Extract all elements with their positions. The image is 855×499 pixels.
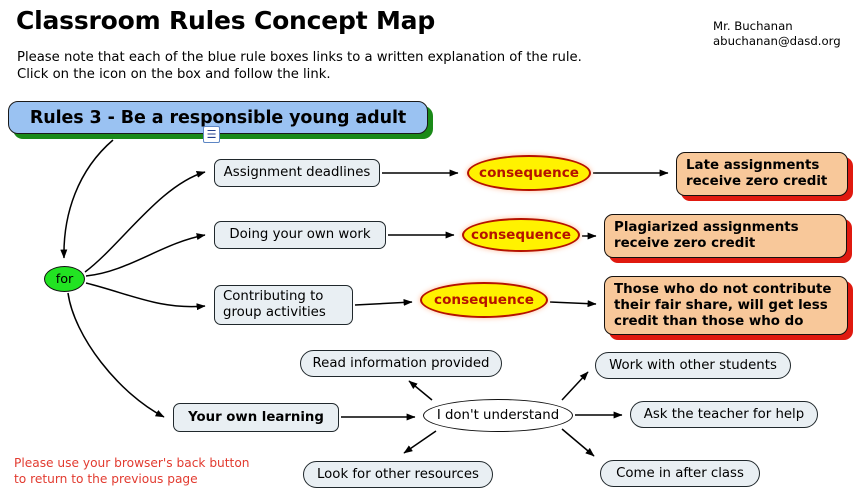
node-ask-the-teacher-for-help[interactable]: Ask the teacher for help <box>630 401 818 428</box>
consequence-node-2: consequence <box>462 218 580 252</box>
node-contrib-line-2: group activities <box>223 305 326 321</box>
document-link-icon[interactable]: ☰ <box>203 126 220 143</box>
node-look-for-other-resources[interactable]: Look for other resources <box>303 461 493 488</box>
outcome-1-line-1: Late assignments <box>686 158 827 174</box>
outcome-fair-share: Those who do not contribute their fair s… <box>604 276 848 335</box>
node-assignment-deadlines[interactable]: Assignment deadlines <box>214 159 380 187</box>
page-title: Classroom Rules Concept Map <box>16 6 435 35</box>
node-i-dont-understand: I don't understand <box>423 399 573 432</box>
author-name: Mr. Buchanan <box>713 19 841 34</box>
subtitle-line-1: Please note that each of the blue rule b… <box>17 49 582 66</box>
outcome-2-line-1: Plagiarized assignments <box>614 220 799 236</box>
consequence-node-3: consequence <box>420 282 548 318</box>
outcome-2-line-2: receive zero credit <box>614 236 799 252</box>
node-contrib-line-1: Contributing to <box>223 289 326 305</box>
outcome-3-line-2: their fair share, will get less <box>614 298 831 314</box>
author-info: Mr. Buchanan abuchanan@dasd.org <box>713 19 841 49</box>
node-doing-your-own-work[interactable]: Doing your own work <box>214 221 386 249</box>
outcome-late-assignments: Late assignments receive zero credit <box>676 152 848 196</box>
node-contributing-to-group-activities[interactable]: Contributing to group activities <box>214 285 353 325</box>
node-your-own-learning[interactable]: Your own learning <box>173 403 339 432</box>
outcome-plagiarized-assignments: Plagiarized assignments receive zero cre… <box>604 214 847 258</box>
document-link-icon-glyph: ☰ <box>207 129 217 140</box>
back-note-line-1: Please use your browser's back button <box>14 455 250 471</box>
author-email: abuchanan@dasd.org <box>713 34 841 49</box>
subtitle-line-2: Click on the icon on the box and follow … <box>17 66 582 83</box>
outcome-1-line-2: receive zero credit <box>686 174 827 190</box>
node-work-with-other-students[interactable]: Work with other students <box>595 352 791 379</box>
outcome-3-line-3: credit than those who do <box>614 314 831 330</box>
concept-map-canvas: Classroom Rules Concept Map Please note … <box>0 0 855 499</box>
consequence-node-1: consequence <box>467 155 591 191</box>
node-read-information-provided[interactable]: Read information provided <box>300 350 502 377</box>
outcome-3-line-1: Those who do not contribute <box>614 282 831 298</box>
back-note-line-2: to return to the previous page <box>14 471 250 487</box>
for-connector-node: for <box>44 266 85 292</box>
page-subtitle: Please note that each of the blue rule b… <box>17 49 582 83</box>
back-button-note: Please use your browser's back button to… <box>14 455 250 487</box>
node-come-in-after-class[interactable]: Come in after class <box>600 460 760 487</box>
